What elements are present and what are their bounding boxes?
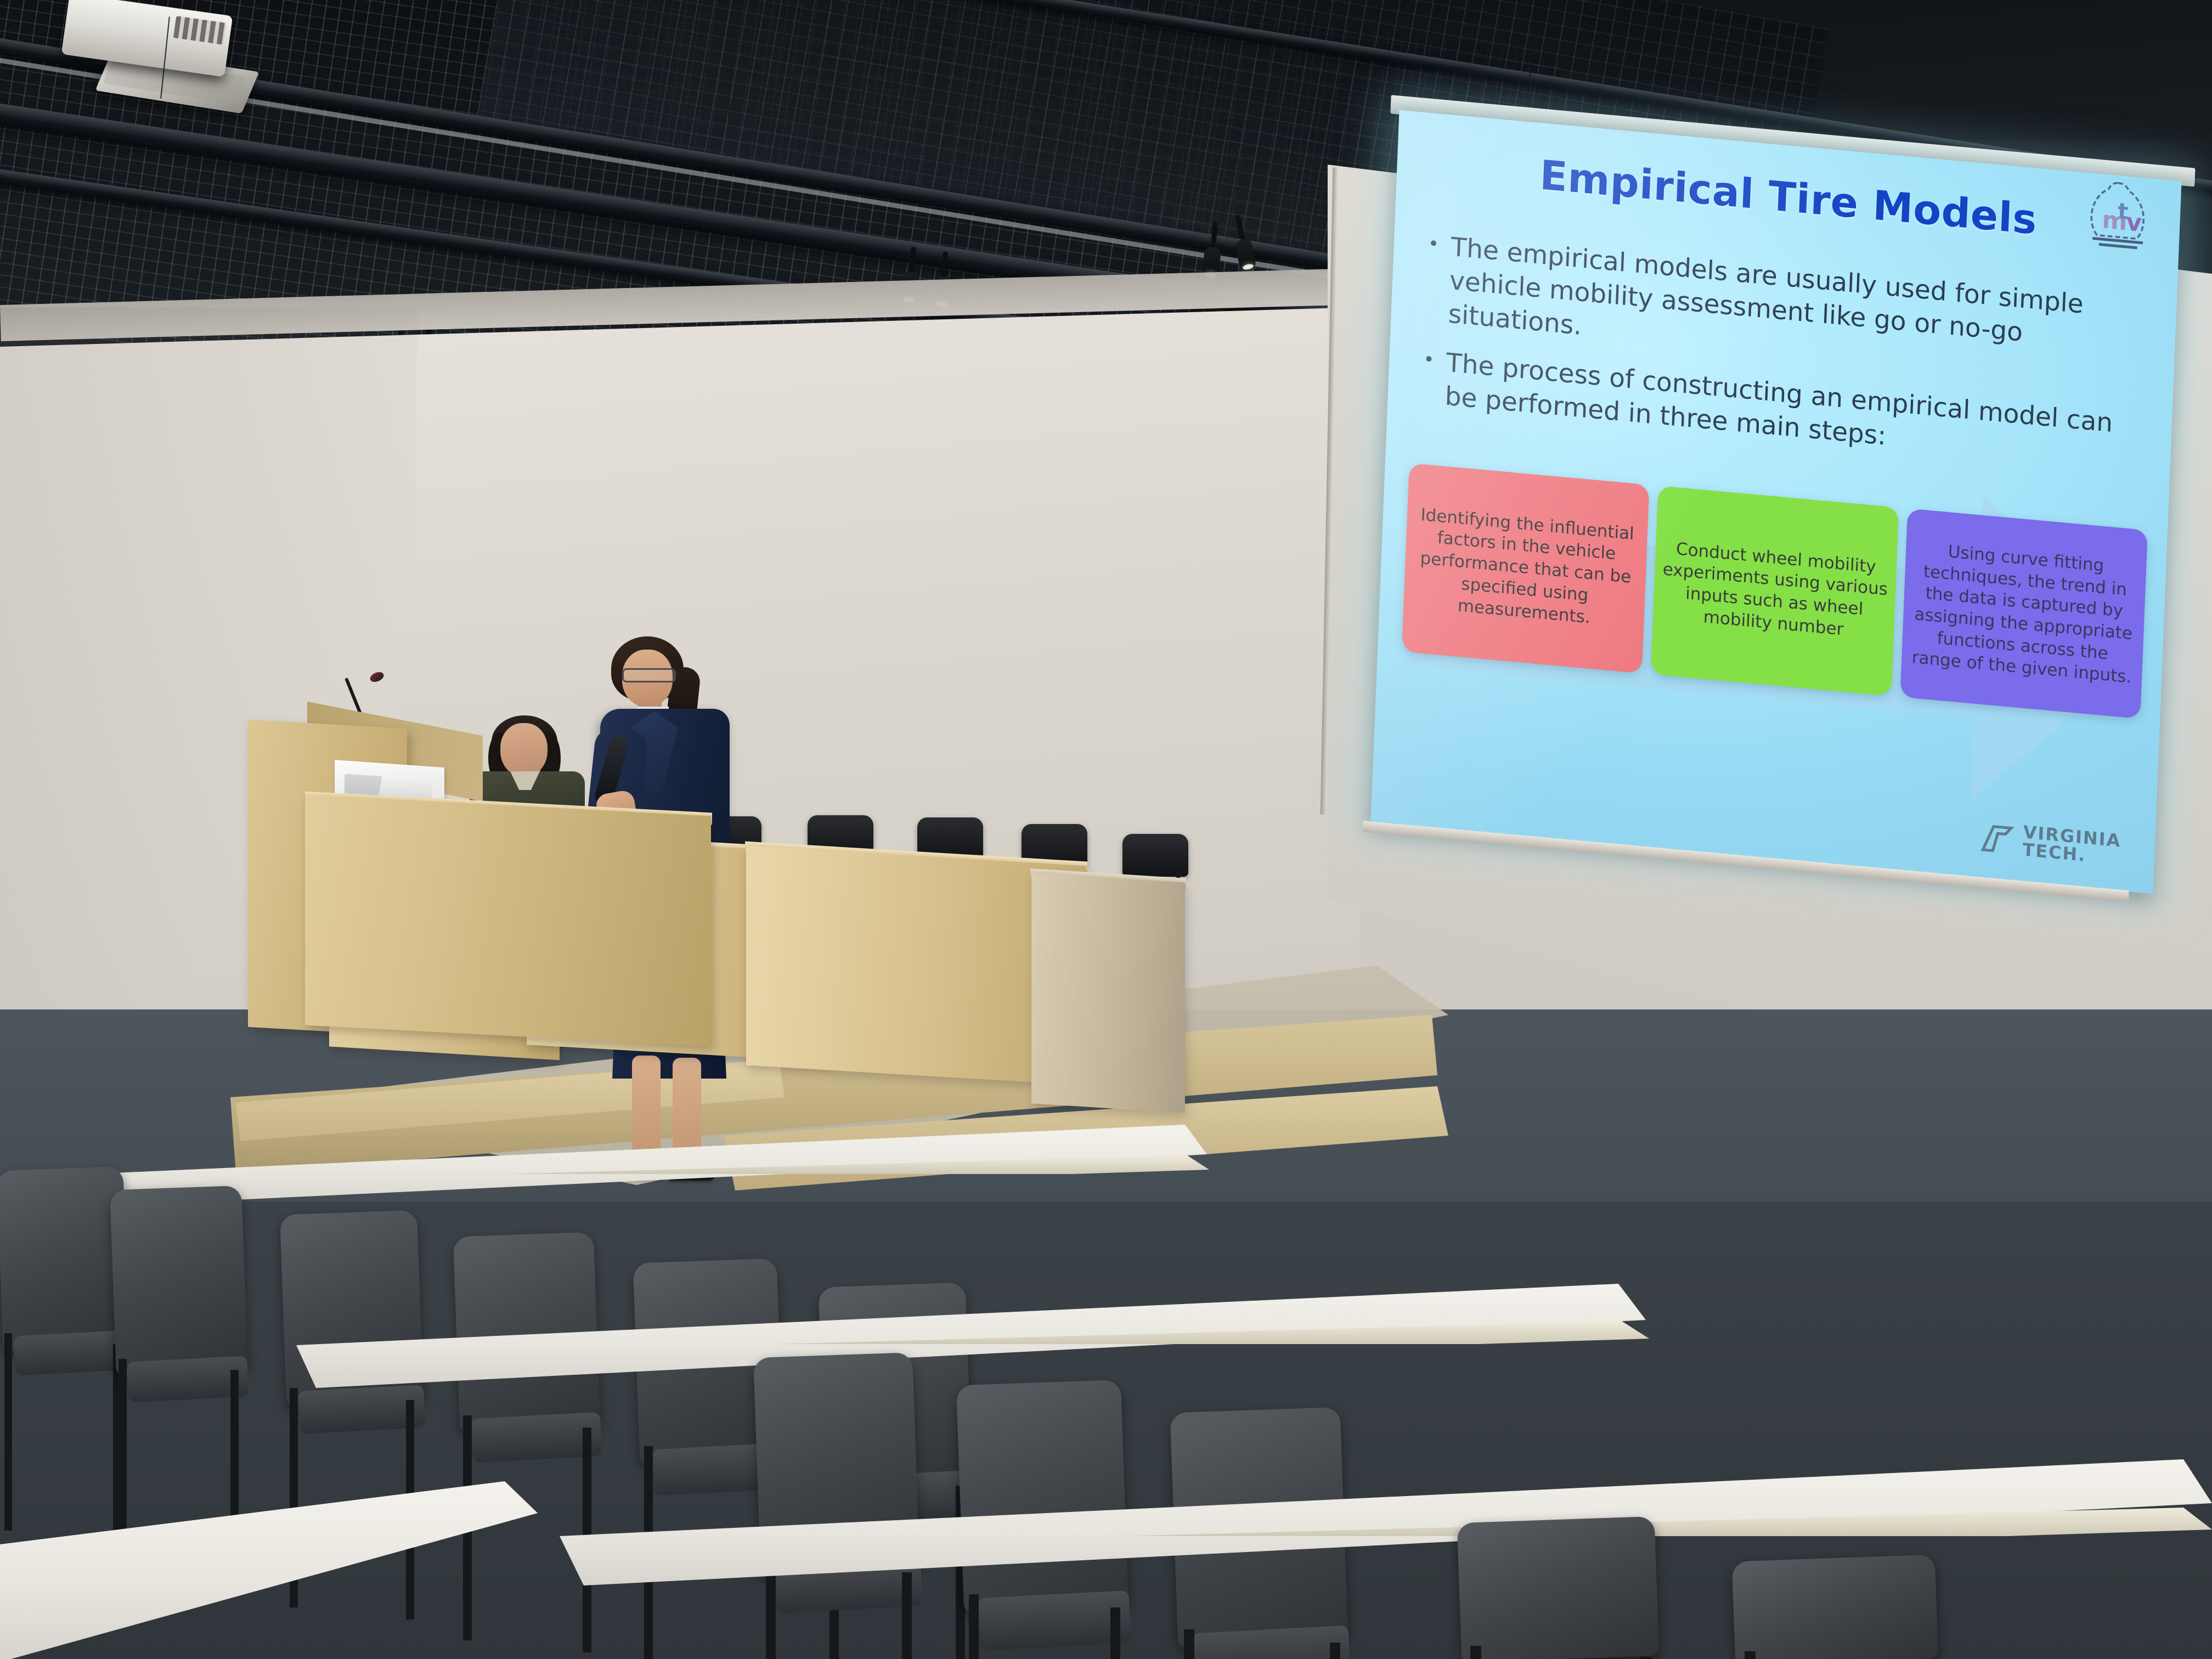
slide-step-box-1: Identifying the influential factors in t… xyxy=(1402,463,1650,674)
slide-step-box-2: Conduct wheel mobility experiments using… xyxy=(1651,486,1899,696)
virginia-tech-wordmark: VIRGINIA TECH. xyxy=(2022,823,2121,867)
eyeglasses-icon xyxy=(622,668,676,682)
lecture-hall-photo: m t v Empirical Tire Models • The empiri… xyxy=(0,0,2212,1659)
audience-chair[interactable] xyxy=(113,1188,245,1374)
bullet-marker-icon: • xyxy=(1425,228,1440,330)
projector-vent xyxy=(173,16,227,44)
projected-slide: m t v Empirical Tire Models • The empiri… xyxy=(1370,110,2181,894)
stage-chair[interactable] xyxy=(1122,834,1188,877)
dais-side-cabinet xyxy=(1031,873,1185,1113)
podium-ledge xyxy=(305,795,711,1047)
officer-face xyxy=(500,723,548,777)
virginia-tech-logo: VIRGINIA TECH. xyxy=(1979,819,2121,868)
audience-chair[interactable] xyxy=(1734,1558,1937,1659)
audience-chair[interactable] xyxy=(960,1383,1125,1610)
projection-screen-assembly: m t v Empirical Tire Models • The empiri… xyxy=(1368,110,2212,963)
slide-bullet-list: • The empirical models are usually used … xyxy=(1421,228,2140,491)
slide-step-boxes: Identifying the influential factors in t… xyxy=(1402,463,2148,719)
bullet-marker-icon: • xyxy=(1421,344,1435,412)
audience-chair[interactable] xyxy=(0,1169,126,1350)
virginia-tech-vt-mark-icon xyxy=(1979,820,2015,857)
audience-chair[interactable] xyxy=(1459,1520,1657,1659)
slide-step-box-3: Using curve fitting techniques, the tren… xyxy=(1900,509,2148,719)
